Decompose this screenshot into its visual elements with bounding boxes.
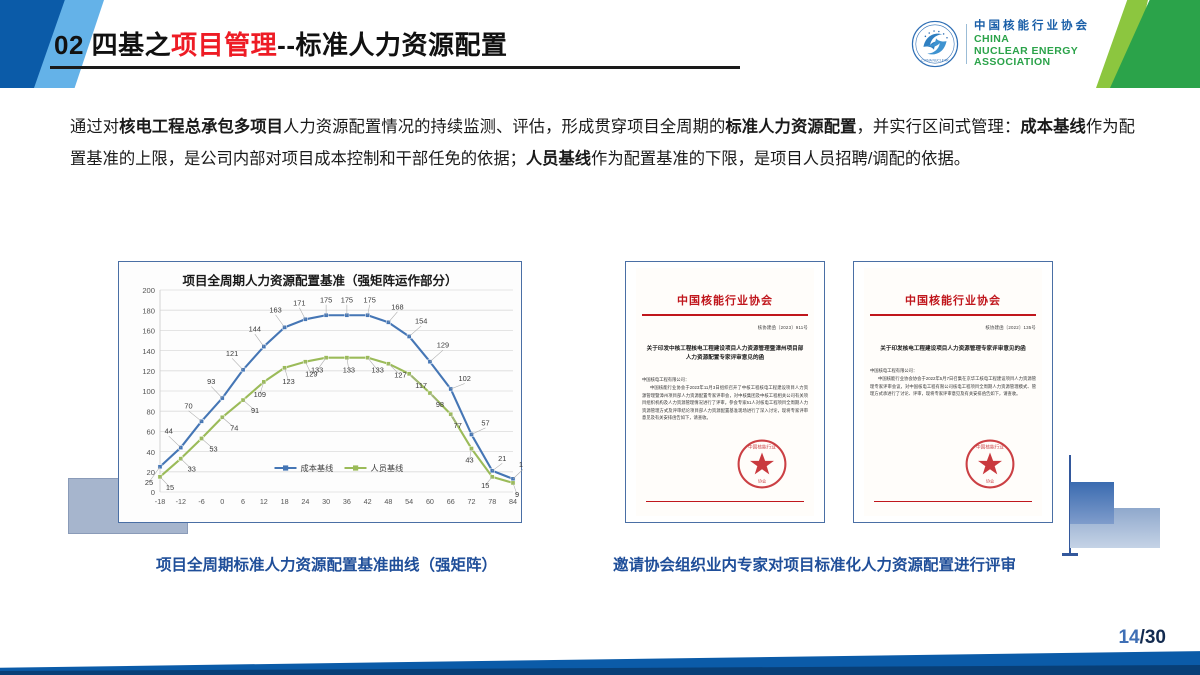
svg-text:40: 40 — [147, 448, 155, 457]
svg-text:0: 0 — [151, 488, 155, 497]
svg-text:-12: -12 — [176, 497, 186, 506]
slide-header: 02 四基之项目管理--标准人力资源配置 CHINA NUCLEAR 中国核能行… — [0, 0, 1200, 88]
document-1-red-seal-icon: 中国核能行业 协会 — [736, 438, 788, 490]
svg-text:80: 80 — [147, 407, 155, 416]
svg-text:54: 54 — [405, 497, 413, 506]
document-1-org-name: 中国核能行业协会 — [636, 292, 814, 308]
document-2-body-line-2: 中国核能行业协会协会于2022年5月7日召集在京华工核电工程建设项目人力资源管理… — [870, 375, 1036, 397]
svg-text:117: 117 — [415, 381, 427, 390]
document-1-page: 中国核能行业协会 核协建函〔2023〕911号 关于印发中核工程核电工程建设项目… — [636, 268, 814, 516]
documents-caption: 邀请协会组织业内专家对项目标准化人力资源配置进行评审 — [613, 553, 1016, 575]
svg-text:74: 74 — [230, 423, 238, 432]
svg-text:171: 171 — [293, 298, 305, 307]
svg-text:175: 175 — [363, 295, 375, 304]
page-number-total: /30 — [1140, 627, 1166, 648]
svg-text:人员基线: 人员基线 — [371, 463, 404, 473]
page-title: 02 四基之项目管理--标准人力资源配置 — [54, 25, 508, 62]
svg-text:154: 154 — [415, 316, 427, 325]
svg-text:-18: -18 — [155, 497, 165, 506]
page-number: 14/30 — [1118, 627, 1166, 649]
document-2-page: 中国核能行业协会 核协建函〔2022〕135号 关于印发核电工程建设项目人力资源… — [864, 268, 1042, 516]
para-bold-1: 核电工程总承包多项目 — [119, 118, 283, 136]
document-card-1[interactable]: 中国核能行业协会 核协建函〔2023〕911号 关于印发中核工程核电工程建设项目… — [625, 261, 825, 523]
svg-text:77: 77 — [454, 421, 462, 430]
svg-text:91: 91 — [251, 406, 259, 415]
page-title-highlight: 项目管理 — [171, 30, 277, 60]
svg-text:6: 6 — [241, 497, 245, 506]
svg-text:15: 15 — [166, 483, 174, 492]
para-seg-1: 通过对 — [70, 118, 119, 136]
svg-text:-6: -6 — [198, 497, 204, 506]
document-1-title: 关于印发中核工程核电工程建设项目人力资源管理暨漳州项目部人力资源配置专家评审意见… — [636, 345, 814, 363]
svg-text:133: 133 — [343, 366, 355, 375]
document-2-body-line-1: 中国核电工程有限公司： — [870, 367, 1036, 374]
svg-text:70: 70 — [184, 401, 192, 410]
svg-text:121: 121 — [226, 349, 238, 358]
svg-text:175: 175 — [341, 295, 353, 304]
svg-text:160: 160 — [142, 327, 155, 336]
hr-baseline-line-chart: 020406080100120140160180200-18-12-606121… — [119, 262, 523, 524]
svg-text:25: 25 — [145, 478, 153, 487]
document-1-footer-rule — [646, 501, 804, 502]
svg-text:48: 48 — [384, 497, 392, 506]
svg-text:33: 33 — [188, 465, 196, 474]
document-1-header-rule — [642, 314, 808, 316]
svg-text:协会: 协会 — [758, 478, 766, 484]
para-seg-3: ，并实行区间式管理： — [856, 118, 1020, 136]
svg-text:43: 43 — [465, 456, 473, 465]
svg-text:144: 144 — [249, 325, 261, 334]
document-1-doc-number: 核协建函〔2023〕911号 — [636, 325, 808, 331]
svg-text:168: 168 — [391, 302, 403, 311]
logo-chinese-name: 中国核能行业协会 — [974, 20, 1090, 32]
svg-text:成本基线: 成本基线 — [301, 463, 334, 473]
para-bold-3: 成本基线 — [1020, 118, 1086, 136]
document-1-body-line-2: 中国核能行业协会于2023年11月3日组织召开了中核工程核电工程建设项目人力资源… — [642, 384, 808, 421]
svg-text:44: 44 — [165, 427, 173, 436]
svg-text:36: 36 — [343, 497, 351, 506]
document-1-body-line-1: 中国核电工程有限公司： — [642, 376, 808, 383]
hr-baseline-chart-panel: 项目全周期人力资源配置基准（强矩阵运作部分） 02040608010012014… — [118, 261, 522, 523]
svg-text:15: 15 — [481, 481, 489, 490]
right-decor-rectangle-small — [1070, 482, 1114, 524]
svg-text:109: 109 — [254, 390, 266, 399]
svg-text:24: 24 — [301, 497, 309, 506]
svg-text:13: 13 — [519, 460, 523, 469]
svg-text:133: 133 — [371, 366, 383, 375]
svg-text:180: 180 — [142, 306, 155, 315]
document-card-2[interactable]: 中国核能行业协会 核协建函〔2022〕135号 关于印发核电工程建设项目人力资源… — [853, 261, 1053, 523]
svg-text:60: 60 — [147, 428, 155, 437]
svg-text:93: 93 — [207, 377, 215, 386]
svg-text:78: 78 — [488, 497, 496, 506]
svg-text:协会: 协会 — [986, 478, 994, 484]
svg-text:102: 102 — [459, 374, 471, 383]
svg-text:100: 100 — [142, 387, 155, 396]
svg-text:123: 123 — [282, 377, 294, 386]
page-number-current: 14 — [1118, 627, 1139, 648]
cnea-emblem-icon: CHINA NUCLEAR — [911, 20, 959, 68]
svg-text:57: 57 — [481, 418, 489, 427]
svg-text:140: 140 — [142, 347, 155, 356]
page-title-number: 02 — [54, 30, 84, 60]
document-2-org-name: 中国核能行业协会 — [864, 292, 1042, 308]
svg-text:12: 12 — [260, 497, 268, 506]
page-title-text-2: --标准人力资源配置 — [277, 30, 507, 60]
document-1-body: 中国核电工程有限公司： 中国核能行业协会于2023年11月3日组织召开了中核工程… — [636, 376, 814, 421]
svg-text:72: 72 — [467, 497, 475, 506]
para-bold-4: 人员基线 — [526, 150, 591, 168]
logo-divider — [966, 24, 967, 64]
svg-text:163: 163 — [269, 305, 281, 314]
document-2-body: 中国核电工程有限公司： 中国核能行业协会协会于2022年5月7日召集在京华工核电… — [864, 367, 1042, 398]
svg-text:9: 9 — [515, 490, 519, 499]
svg-text:53: 53 — [209, 444, 217, 453]
svg-text:中国核能行业: 中国核能行业 — [748, 443, 776, 450]
document-2-footer-rule — [874, 501, 1032, 502]
para-seg-2: 人力资源配置情况的持续监测、评估，形成贯穿项目全周期的 — [283, 118, 725, 136]
svg-text:98: 98 — [436, 400, 444, 409]
page-title-text-1: 四基之 — [84, 30, 171, 60]
svg-text:42: 42 — [364, 497, 372, 506]
document-2-title: 关于印发核电工程建设项目人力资源管理专家评审意见的函 — [864, 345, 1042, 354]
para-bold-2: 标准人力资源配置 — [725, 118, 856, 136]
svg-text:中国核能行业: 中国核能行业 — [976, 443, 1004, 450]
title-underline-divider — [50, 66, 740, 69]
svg-text:133: 133 — [311, 366, 323, 375]
document-2-doc-number: 核协建函〔2022〕135号 — [864, 325, 1036, 331]
svg-text:18: 18 — [281, 497, 289, 506]
svg-text:0: 0 — [220, 497, 224, 506]
cnea-logo: CHINA NUCLEAR 中国核能行业协会 CHINA NUCLEAR ENE… — [911, 20, 1090, 68]
logo-english-line-3: ASSOCIATION — [974, 57, 1090, 68]
document-2-red-seal-icon: 中国核能行业 协会 — [964, 438, 1016, 490]
svg-text:CHINA NUCLEAR: CHINA NUCLEAR — [921, 58, 949, 62]
document-2-header-rule — [870, 314, 1036, 316]
body-paragraph: 通过对核电工程总承包多项目人力资源配置情况的持续监测、评估，形成贯穿项目全周期的… — [70, 112, 1135, 176]
svg-text:129: 129 — [437, 341, 449, 350]
svg-text:60: 60 — [426, 497, 434, 506]
right-decor-tick — [1062, 553, 1078, 556]
para-seg-5: 作为配置基准的下限，是项目人员招聘/调配的依据。 — [591, 150, 970, 168]
svg-text:200: 200 — [142, 286, 155, 295]
svg-text:66: 66 — [447, 497, 455, 506]
svg-text:21: 21 — [498, 454, 506, 463]
svg-text:175: 175 — [320, 295, 332, 304]
chart-caption: 项目全周期标准人力资源配置基准曲线（强矩阵） — [156, 553, 497, 575]
svg-text:120: 120 — [142, 367, 155, 376]
svg-text:127: 127 — [394, 371, 406, 380]
logo-text-block: 中国核能行业协会 CHINA NUCLEAR ENERGY ASSOCIATIO… — [974, 20, 1090, 68]
svg-text:30: 30 — [322, 497, 330, 506]
